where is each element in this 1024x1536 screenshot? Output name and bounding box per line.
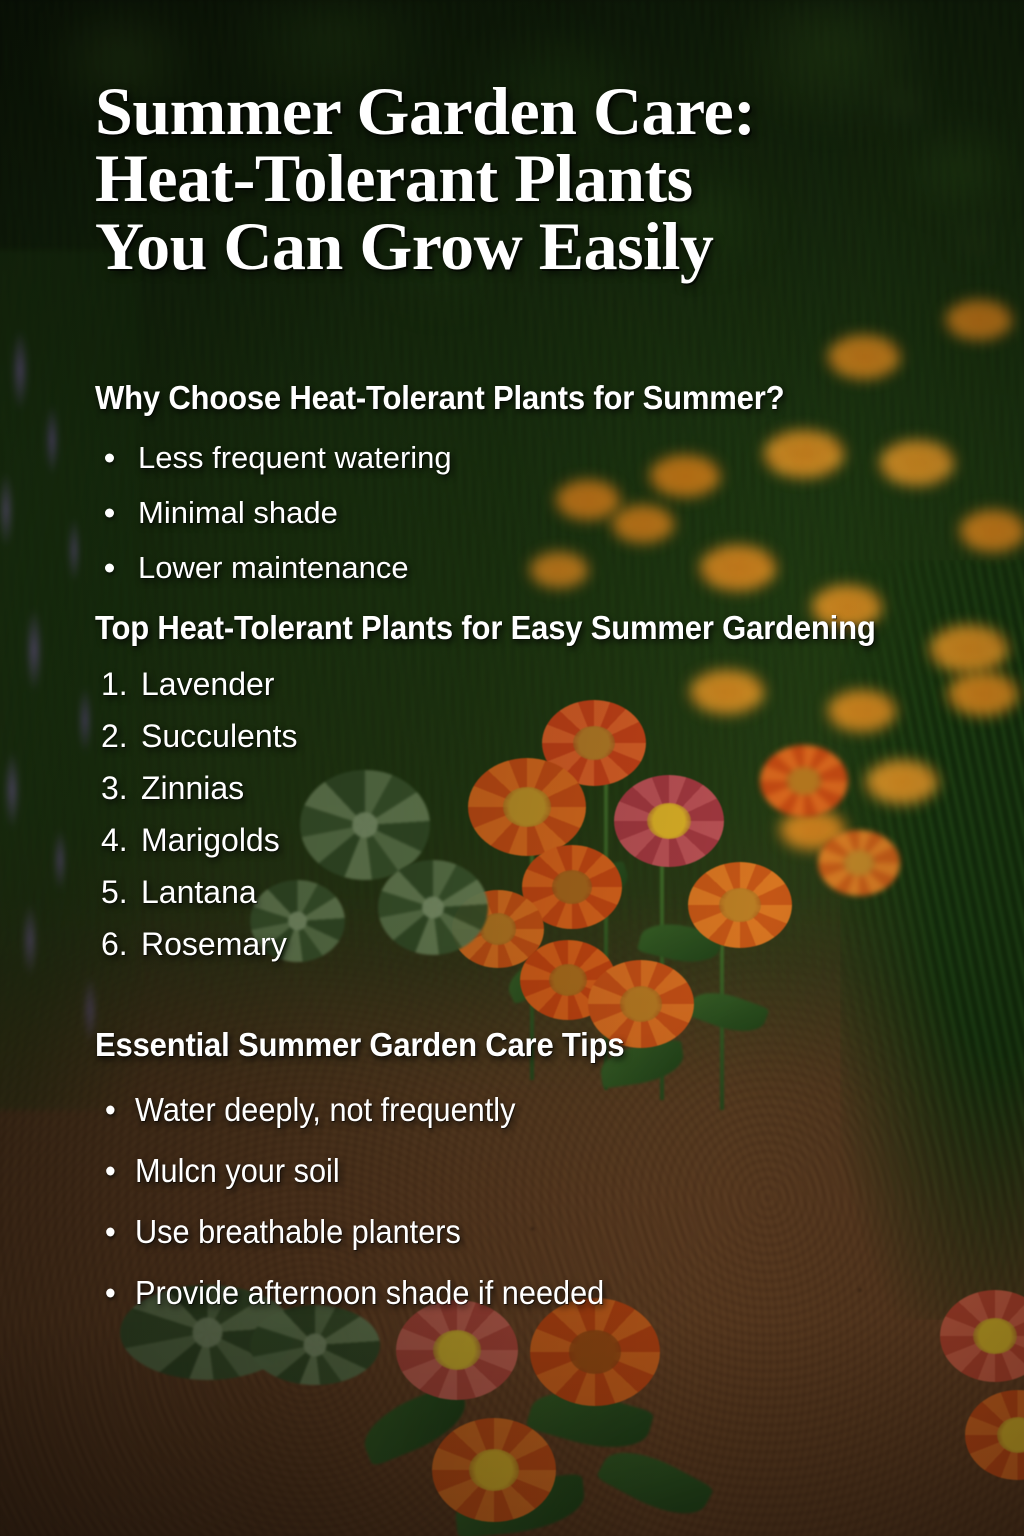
list-item: Minimal shade: [95, 497, 975, 528]
title-line-2: Heat-Tolerant Plants: [95, 145, 925, 212]
list-item: Less frequent watering: [95, 442, 975, 473]
bullet-icon: [106, 1166, 114, 1175]
poster-content: Summer Garden Care: Heat-Tolerant Plants…: [0, 0, 1024, 1536]
section-heading-care-tips: Essential Summer Garden Care Tips: [95, 1025, 922, 1065]
plants-list: 1.Lavender 2.Succulents 3.Zinnias 4.Mari…: [95, 668, 975, 960]
list-item-label: Provide afternoon shade if needed: [135, 1274, 604, 1311]
section-heading-why-choose: Why Choose Heat-Tolerant Plants for Summ…: [95, 378, 922, 418]
bullet-icon: [105, 563, 114, 572]
list-item-label: Marigolds: [141, 822, 280, 858]
bullet-icon: [106, 1227, 114, 1236]
list-item: 2.Succulents: [95, 720, 975, 752]
list-item-label: Zinnias: [141, 770, 244, 806]
list-item: 6.Rosemary: [95, 928, 975, 960]
list-item: Lower maintenance: [95, 552, 975, 583]
infographic-poster: Summer Garden Care: Heat-Tolerant Plants…: [0, 0, 1024, 1536]
list-item-label: Rosemary: [141, 926, 287, 962]
section-care-tips: Essential Summer Garden Care Tips Water …: [95, 1025, 975, 1309]
title-line-3: You Can Grow Easily: [95, 213, 925, 280]
list-item-label: Water deeply, not frequently: [135, 1091, 515, 1128]
list-item-number: 1.: [101, 668, 141, 700]
list-item: 5.Lantana: [95, 876, 975, 908]
list-item-number: 5.: [101, 876, 141, 908]
bullet-icon: [106, 1105, 114, 1114]
bullet-icon: [106, 1288, 114, 1297]
section-top-plants: Top Heat-Tolerant Plants for Easy Summer…: [95, 608, 975, 960]
list-item-label: Lower maintenance: [138, 550, 409, 585]
benefits-list: Less frequent watering Minimal shade Low…: [95, 442, 975, 583]
list-item-label: Use breathable planters: [135, 1213, 461, 1250]
bullet-icon: [105, 508, 114, 517]
list-item-label: Mulcn your soil: [135, 1152, 340, 1189]
list-item: Provide afternoon shade if needed: [95, 1276, 913, 1309]
list-item-number: 6.: [101, 928, 141, 960]
bullet-icon: [105, 453, 114, 462]
list-item-number: 2.: [101, 720, 141, 752]
list-item-number: 3.: [101, 772, 141, 804]
list-item-label: Succulents: [141, 718, 298, 754]
list-item: 3.Zinnias: [95, 772, 975, 804]
list-item-label: Lavender: [141, 666, 274, 702]
list-item: Use breathable planters: [95, 1215, 913, 1248]
list-item-number: 4.: [101, 824, 141, 856]
list-item: 1.Lavender: [95, 668, 975, 700]
list-item-label: Minimal shade: [138, 495, 338, 530]
list-item-label: Less frequent watering: [138, 440, 452, 475]
list-item-label: Lantana: [141, 874, 257, 910]
page-title: Summer Garden Care: Heat-Tolerant Plants…: [95, 78, 925, 280]
list-item: Mulcn your soil: [95, 1154, 913, 1187]
list-item: 4.Marigolds: [95, 824, 975, 856]
title-line-1: Summer Garden Care:: [95, 78, 925, 145]
section-why-choose: Why Choose Heat-Tolerant Plants for Summ…: [95, 378, 975, 583]
section-heading-top-plants: Top Heat-Tolerant Plants for Easy Summer…: [95, 608, 922, 648]
list-item: Water deeply, not frequently: [95, 1093, 913, 1126]
care-tips-list: Water deeply, not frequently Mulcn your …: [95, 1093, 975, 1309]
